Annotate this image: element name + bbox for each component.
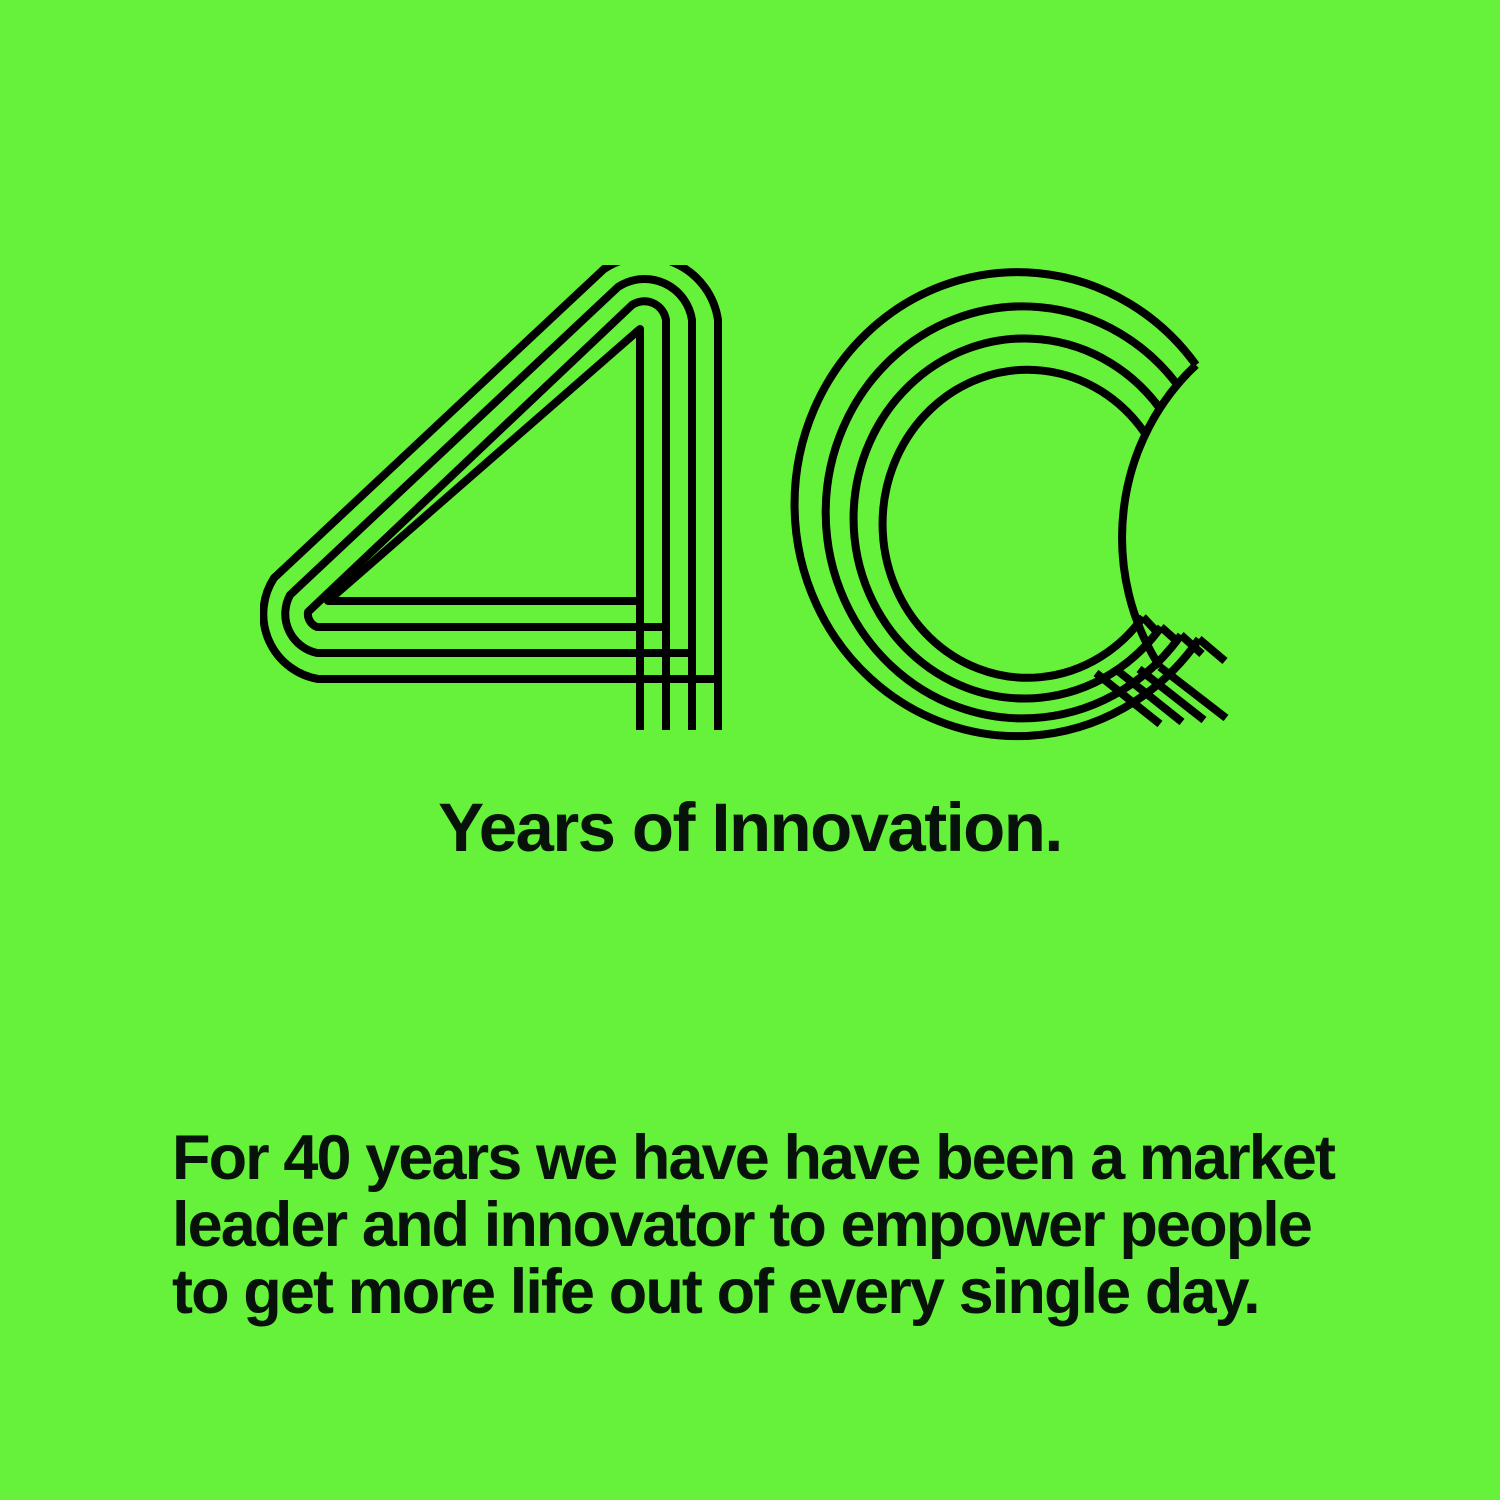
numeral-zero-linework — [795, 272, 1226, 736]
forty-anniversary-logo — [260, 265, 1250, 755]
body-copy-line: leader and innovator to empower people — [172, 1192, 1372, 1259]
page-title: Years of Innovation. — [0, 793, 1500, 862]
poster-canvas: Years of Innovation. For 40 years we hav… — [0, 0, 1500, 1500]
body-copy: For 40 years we have have been a market … — [172, 1125, 1372, 1326]
body-copy-line: to get more life out of every single day… — [172, 1259, 1372, 1326]
logo-container — [0, 0, 1500, 800]
numeral-four-linework — [263, 265, 718, 730]
body-copy-line: For 40 years we have have been a market — [172, 1125, 1372, 1192]
